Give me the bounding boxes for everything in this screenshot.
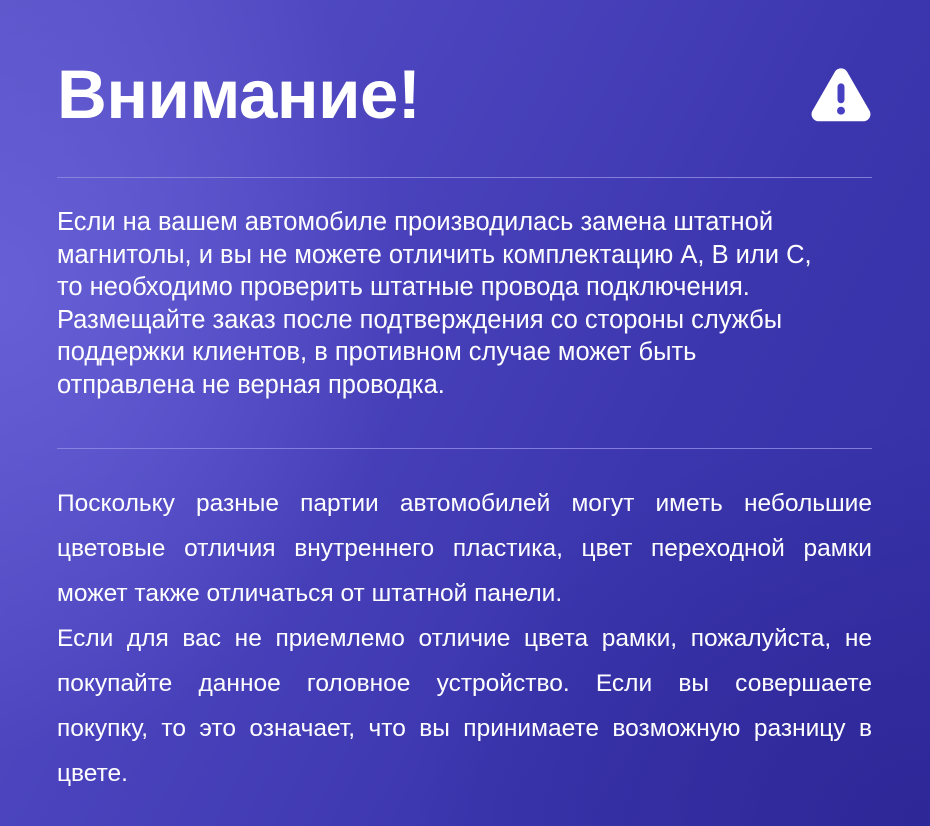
notice-line: поддержки клиентов, в противном случае м… bbox=[57, 336, 872, 369]
divider-top bbox=[57, 177, 872, 178]
warning-notice-banner: Внимание! Если на вашем автомобиле произ… bbox=[0, 0, 930, 826]
notice-line: Поскольку разные партии автомобилей могу… bbox=[57, 481, 872, 526]
notice-line: покупку, то это означает, что вы принима… bbox=[57, 706, 872, 751]
primary-notice-paragraph: Если на вашем автомобиле производилась з… bbox=[57, 206, 872, 402]
banner-header: Внимание! bbox=[57, 52, 872, 144]
notice-line: Размещайте заказ после подтверждения со … bbox=[57, 304, 872, 337]
primary-notice-block: Если на вашем автомобиле производилась з… bbox=[57, 206, 872, 402]
purchase-agreement-paragraph: Если для вас не приемлемо отличие цвета … bbox=[57, 616, 872, 796]
notice-line: отправлена не верная проводка. bbox=[57, 369, 872, 402]
divider-bottom bbox=[57, 448, 872, 449]
notice-line: магнитолы, и вы не можете отличить компл… bbox=[57, 239, 872, 272]
notice-line: может также отличаться от штатной панели… bbox=[57, 571, 872, 616]
page-title: Внимание! bbox=[57, 52, 420, 138]
warning-triangle-icon bbox=[810, 64, 872, 126]
notice-line: цвете. bbox=[57, 751, 872, 796]
secondary-notice-block: Поскольку разные партии автомобилей могу… bbox=[57, 481, 872, 796]
banner-surface: Внимание! Если на вашем автомобиле произ… bbox=[0, 0, 930, 826]
notice-line: покупайте данное головное устройство. Ес… bbox=[57, 661, 872, 706]
notice-line: то необходимо проверить штатные провода … bbox=[57, 271, 872, 304]
notice-line: цветовые отличия внутреннего пластика, ц… bbox=[57, 526, 872, 571]
notice-line: Если для вас не приемлемо отличие цвета … bbox=[57, 616, 872, 661]
notice-line: Если на вашем автомобиле производилась з… bbox=[57, 206, 872, 239]
color-variance-paragraph: Поскольку разные партии автомобилей могу… bbox=[57, 481, 872, 616]
